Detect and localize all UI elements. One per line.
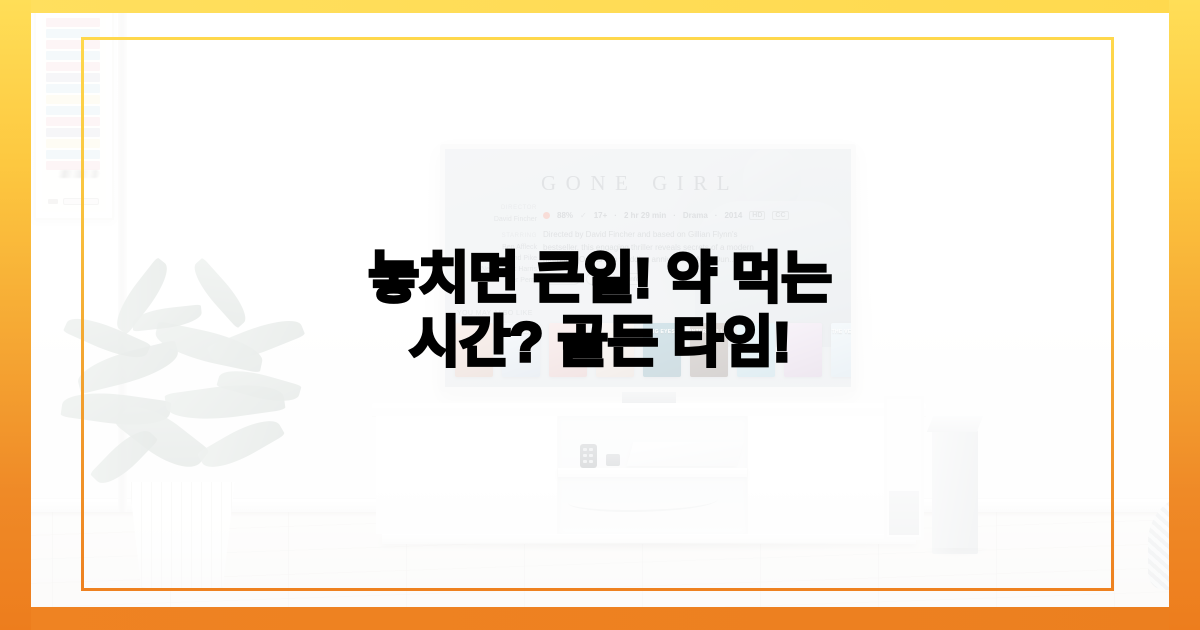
- movie-meta-row: 88% ✓ 17+ · 2 hr 29 min · Drama · 2014 H…: [543, 211, 789, 220]
- chip-autoplay[interactable]: Autoplay: [543, 273, 580, 285]
- television: GONE GIRL 88% ✓ 17+ · 2 hr 29 min · Dram…: [440, 144, 856, 392]
- credit-names-director: David Fincher: [459, 214, 537, 225]
- credit-role-starring: STARRING: [459, 231, 537, 242]
- movie-action-chips: Autoplay Trailer Info: [543, 273, 645, 285]
- poster-title: INTERSTELLAR: [690, 329, 728, 335]
- movie-title: GONE GIRL: [541, 171, 739, 196]
- wall-art-mat: [42, 16, 106, 212]
- media-tray: [627, 442, 744, 466]
- speaker-shadow: [918, 548, 996, 560]
- poster-item: [549, 323, 587, 377]
- meta-dot: ·: [715, 211, 718, 220]
- console-door-left: [376, 416, 558, 534]
- console-top-surface: [372, 403, 926, 416]
- room-photo: GONE GIRL 88% ✓ 17+ · 2 hr 29 min · Dram…: [0, 0, 1200, 630]
- cable: [568, 490, 718, 512]
- synopsis-text: Directed by David Fincher and based on G…: [543, 230, 754, 264]
- verified-icon: ✓: [580, 211, 587, 220]
- side-cabinet: [884, 396, 924, 540]
- meta-dot: ·: [614, 211, 617, 220]
- poster-carousel[interactable]: The Judge BIG EYES INTERSTELLAR THE VERD…: [455, 323, 841, 377]
- console-shelf: [558, 468, 747, 477]
- credit-names-starring: Ben Affleck Rosamund Pike Neil Patrick H…: [459, 242, 537, 286]
- cc-badge: CC: [772, 211, 788, 220]
- console-open-bay: [558, 416, 747, 534]
- poster-row-label: YOU MAY ALSO LIKE: [457, 310, 533, 317]
- meta-dot: ·: [673, 211, 676, 220]
- poster-item: [784, 323, 822, 377]
- movie-synopsis: Directed by David Fincher and based on G…: [543, 229, 767, 267]
- poster-item: INTERSTELLAR: [690, 323, 728, 377]
- poster-title: The Judge: [502, 329, 540, 335]
- poster-item: The Judge: [502, 323, 540, 377]
- potted-plant: [58, 268, 308, 588]
- console-body: [376, 416, 922, 534]
- synopsis-more-link[interactable]: more: [738, 255, 756, 264]
- movie-rating: 17+: [594, 211, 608, 220]
- wall-art-label: [48, 198, 99, 205]
- poster-title: THE VERDICT: [831, 329, 851, 335]
- movie-runtime: 2 hr 29 min: [624, 211, 666, 220]
- floor-speaker: [932, 430, 978, 554]
- plant-pot: [122, 482, 242, 588]
- thumbnail-canvas: GONE GIRL 88% ✓ 17+ · 2 hr 29 min · Dram…: [0, 0, 1200, 630]
- poster-item: [455, 323, 493, 377]
- movie-score: 88%: [557, 211, 573, 220]
- wall-art-signature: [56, 170, 100, 178]
- set-top-box: [606, 454, 620, 466]
- tomatometer-icon: [543, 212, 550, 219]
- movie-genre: Drama: [683, 211, 708, 220]
- movie-credits: DIRECTOR David Fincher STARRING Ben Affl…: [459, 203, 537, 286]
- tv-console: [372, 403, 926, 548]
- wall-art-stripes: [46, 18, 100, 164]
- remote-control: [580, 444, 597, 468]
- credit-role-director: DIRECTOR: [459, 203, 537, 214]
- poster-item: THE VERDICT: [831, 323, 851, 377]
- wall-art-frame: [34, 8, 114, 220]
- tv-screen: GONE GIRL 88% ✓ 17+ · 2 hr 29 min · Dram…: [445, 149, 851, 387]
- chip-trailer[interactable]: Trailer: [586, 273, 616, 285]
- console-shadow: [388, 543, 912, 555]
- poster-item: [596, 323, 634, 377]
- poster-item: [737, 323, 775, 377]
- poster-item: BIG EYES: [643, 323, 681, 377]
- chip-info[interactable]: Info: [622, 273, 645, 285]
- hd-badge: HD: [749, 211, 765, 220]
- poster-title: BIG EYES: [643, 329, 681, 335]
- movie-year: 2014: [724, 211, 742, 220]
